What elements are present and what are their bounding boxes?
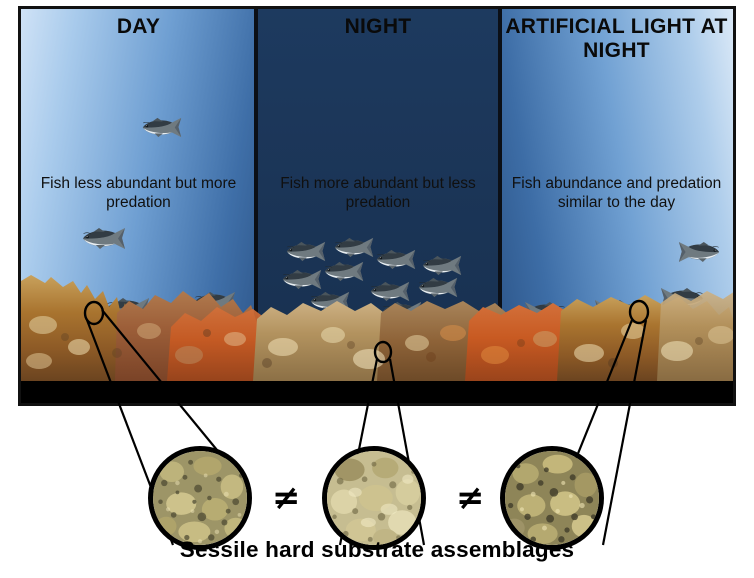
reef-substrate-band — [21, 273, 733, 403]
panel-caption-day: Fish less abundant but more predation — [27, 175, 250, 213]
fish-icon — [139, 117, 185, 138]
substrate-texture-alan — [505, 451, 599, 545]
not-equal-symbol-2: ≠ — [456, 481, 485, 515]
panel-title-day: DAY — [21, 15, 256, 39]
fish-icon — [79, 227, 129, 250]
reef-base-shadow — [21, 381, 733, 403]
panel-caption-alan: Fish abundance and predation similar to … — [506, 175, 727, 213]
panel-caption-night: Fish more abundant but less predation — [262, 175, 494, 213]
detail-circle-night — [322, 446, 426, 550]
substrate-texture-day — [153, 451, 247, 545]
panel-title-alan: ARTIFICIAL LIGHT AT NIGHT — [500, 15, 733, 62]
detail-circle-alan — [500, 446, 604, 550]
fish-icon — [283, 241, 329, 262]
not-equal-symbol-1: ≠ — [272, 481, 301, 515]
detail-circle-day — [148, 446, 252, 550]
bottom-caption: Sessile hard substrate assemblages — [0, 537, 754, 563]
substrate-texture-night — [327, 451, 421, 545]
fish-icon — [331, 237, 377, 258]
fish-icon — [373, 249, 419, 270]
figure-root: DAY Fish less abundant but more predatio… — [0, 0, 754, 578]
underwater-scene: DAY Fish less abundant but more predatio… — [18, 6, 736, 406]
panel-title-night: NIGHT — [256, 15, 500, 39]
fish-icon — [675, 241, 723, 263]
